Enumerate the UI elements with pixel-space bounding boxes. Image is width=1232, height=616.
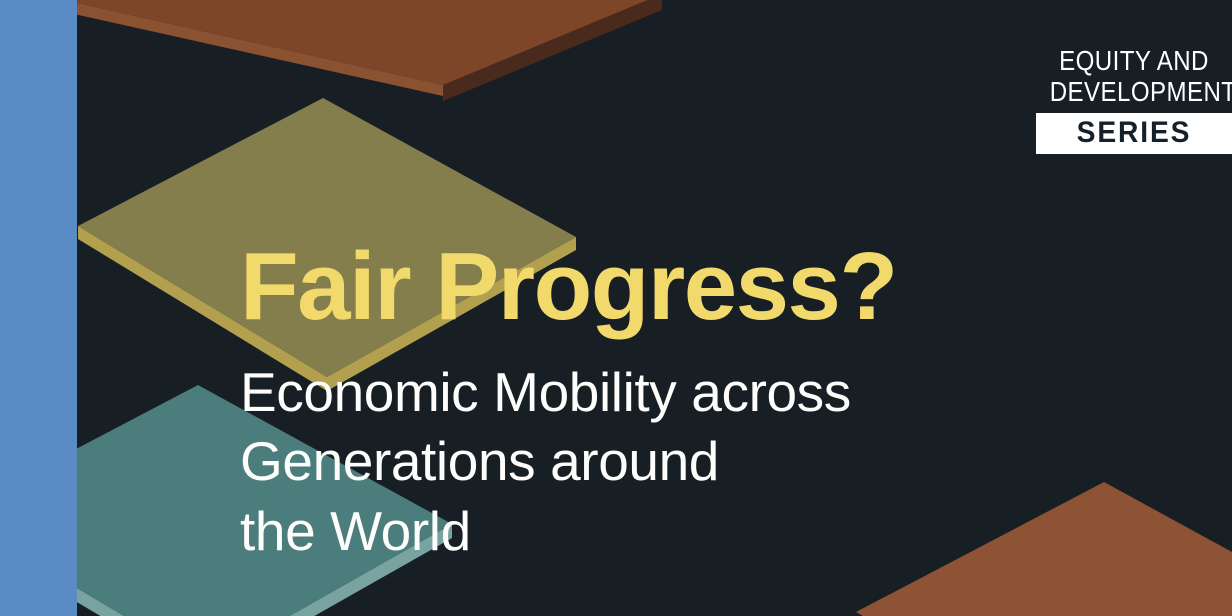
book-cover: EQUITY AND DEVELOPMENT SERIES Fair Progr…	[0, 0, 1232, 616]
page-title: Fair Progress?	[240, 238, 1100, 336]
series-badge: EQUITY AND DEVELOPMENT SERIES	[1036, 46, 1232, 154]
series-badge-line-1: EQUITY AND	[1050, 46, 1219, 77]
cover-subtitle-line: Economic Mobility across	[240, 358, 1100, 427]
cover-subtitle-line: the World	[240, 497, 1100, 566]
series-badge-line-2: DEVELOPMENT	[1050, 77, 1219, 108]
left-accent-stripe	[0, 0, 77, 616]
cover-text-block: Fair Progress? Economic Mobility across …	[240, 238, 1100, 566]
series-badge-bar: SERIES	[1036, 113, 1232, 154]
cover-subtitle: Economic Mobility across Generations aro…	[240, 358, 1100, 566]
series-badge-word: SERIES	[1042, 116, 1226, 149]
cover-subtitle-line: Generations around	[240, 427, 1100, 496]
